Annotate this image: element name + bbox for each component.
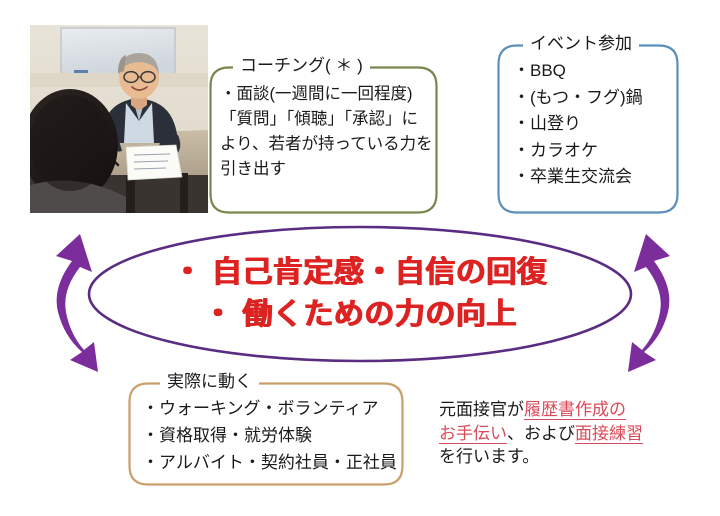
list-item: ・ウォーキング・ボランティア [142, 395, 394, 422]
callout-action-body: ・ウォーキング・ボランティア ・資格取得・就労体験 ・アルバイト・契約社員・正社… [128, 382, 404, 484]
goals-ellipse-text: ・ 自己肯定感・自信の回復 ・ 働くための力の向上 [86, 224, 634, 364]
list-item: ・山登り [513, 111, 669, 138]
counseling-interview-photo [30, 25, 208, 213]
list-item: ・カラオケ [513, 138, 669, 165]
list-item: ・(もつ・フグ)鍋 [513, 85, 669, 112]
goals-ellipse: ・ 自己肯定感・自信の回復 ・ 働くための力の向上 [86, 224, 634, 364]
list-item: 「質問」「傾聴」「承認」に [220, 107, 428, 132]
callout-coaching-body: ・面談(一週間に一回程度) 「質問」「傾聴」「承認」に より、若者が持っている力… [209, 66, 438, 190]
note-line-1-plain: 元面接官が [439, 400, 524, 419]
list-item: ・BBQ [513, 58, 669, 85]
interview-support-note: 元面接官が履歴書作成の お手伝い、および面接練習 を行います。 [439, 398, 669, 469]
list-item: ・アルバイト・契約社員・正社員 [142, 449, 394, 476]
note-line-2-highlight-b: 面接練習 [575, 424, 643, 444]
callout-coaching: コーチング( ＊ ) ・面談(一週間に一回程度) 「質問」「傾聴」「承認」に よ… [209, 66, 438, 214]
list-item: 引き出す [220, 157, 428, 182]
list-item: ・面談(一週間に一回程度) [220, 82, 428, 107]
callout-event-body: ・BBQ ・(もつ・フグ)鍋 ・山登り ・カラオケ ・卒業生交流会 [497, 44, 679, 199]
note-line-3: を行います。 [439, 445, 669, 469]
note-line-2-highlight-a: お手伝い [439, 424, 507, 444]
list-item: ・資格取得・就労体験 [142, 422, 394, 449]
list-item: より、若者が持っている力を [220, 132, 428, 157]
infographic-canvas: コーチング( ＊ ) ・面談(一週間に一回程度) 「質問」「傾聴」「承認」に よ… [0, 0, 720, 516]
list-item: ・卒業生交流会 [513, 164, 669, 191]
goal-line: ・ 働くための力の向上 [203, 295, 517, 335]
goal-line: ・ 自己肯定感・自信の回復 [173, 253, 548, 293]
note-line-2-plain: 、および [507, 424, 575, 443]
note-line-2: お手伝い、および面接練習 [439, 422, 669, 446]
note-line-1: 元面接官が履歴書作成の [439, 398, 669, 422]
callout-action: 実際に動く ・ウォーキング・ボランティア ・資格取得・就労体験 ・アルバイト・契… [128, 382, 404, 486]
callout-event: イベント参加 ・BBQ ・(もつ・フグ)鍋 ・山登り ・カラオケ ・卒業生交流会 [497, 44, 679, 214]
note-line-1-highlight: 履歴書作成の [524, 400, 626, 420]
